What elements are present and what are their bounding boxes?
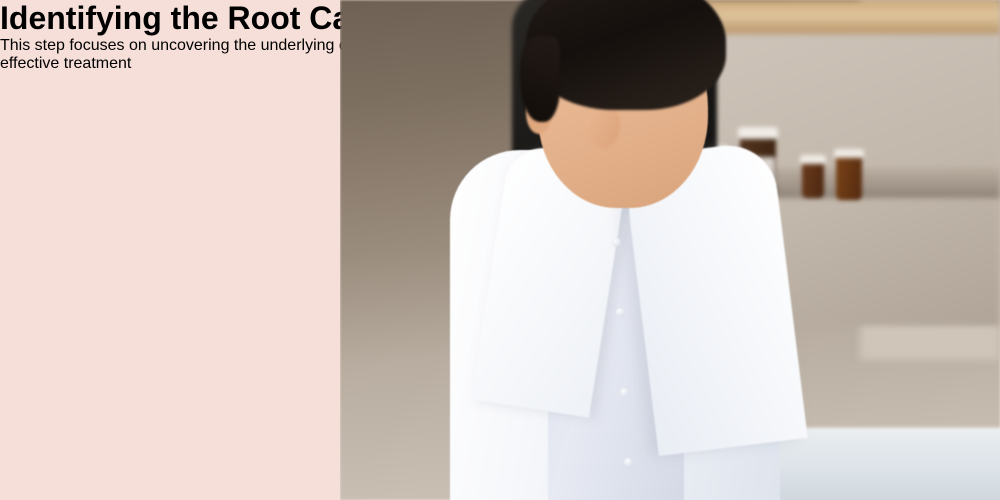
doctor-smile: [568, 148, 646, 180]
doctor-nose: [586, 104, 620, 148]
bottle-cap-icon: [800, 155, 826, 164]
medicine-bottle-amber-right: [836, 156, 862, 200]
shirt-button: [612, 238, 621, 247]
bottle-cap-icon: [834, 149, 864, 158]
shirt-button: [624, 458, 633, 467]
medicine-bottle-brown-small: [802, 162, 824, 198]
shirt-button: [616, 308, 625, 317]
health-infographic-banner: Identifying the Root Cause of Disease Th…: [0, 0, 1000, 500]
doctor-hair-sideburn: [520, 36, 560, 122]
shirt-button: [620, 388, 629, 397]
bottle-cap-icon: [738, 127, 778, 139]
doctor-patient-photo: [340, 0, 1000, 500]
